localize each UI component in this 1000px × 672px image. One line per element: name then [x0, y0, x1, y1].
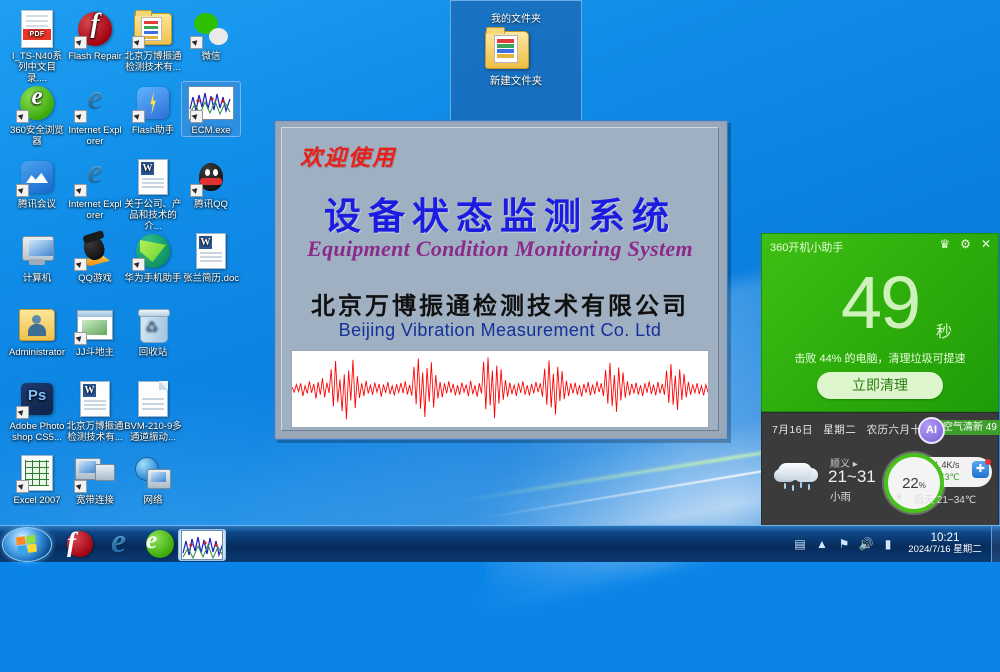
clock-date: 2024/7/16 星期二	[899, 544, 991, 556]
desktop-icon-label: Internet Explorer	[66, 199, 124, 221]
splash-company-cn: 北京万博振通检测技术有限公司	[282, 286, 718, 321]
network-glyph	[124, 452, 182, 494]
desktop-icon-flash-helper[interactable]: Flash助手	[124, 82, 182, 136]
desktop-icon-bvm-210-doc[interactable]: BVM-210-9多通道振动...	[124, 378, 182, 443]
flash-repair-glyph	[66, 8, 124, 50]
desktop-icon-network[interactable]: 网络	[124, 452, 182, 506]
weather-date-line: 7月16日 星期二 农历六月十一	[772, 422, 933, 437]
shortcut-arrow-icon	[190, 110, 203, 123]
desktop-icon-label: 腾讯QQ	[182, 199, 240, 210]
desktop-icon-label: Adobe Photoshop CS5...	[8, 421, 66, 443]
desktop-icon-label: 北京万博振通检测技术有...	[124, 51, 182, 73]
desktop-icon-label: 张兰简历.doc	[182, 273, 240, 284]
desktop-icon-company-intro-doc[interactable]: W关于公司、产品和技术的介...	[124, 156, 182, 232]
shortcut-arrow-icon	[16, 480, 29, 493]
shortcut-arrow-icon	[16, 406, 29, 419]
company-intro-doc-glyph: W	[124, 156, 182, 198]
desktop-icon-flash-repair[interactable]: Flash Repair	[66, 8, 124, 62]
clean-now-button[interactable]: 立即清理	[817, 372, 943, 399]
qq-game-glyph	[66, 230, 124, 272]
usage-percent-value: 22	[902, 475, 919, 492]
shortcut-arrow-icon	[190, 36, 203, 49]
close-icon[interactable]: ✕	[981, 238, 991, 250]
forecast-text: 后天 21~34℃	[914, 491, 976, 506]
weather-date: 7月16日	[772, 424, 813, 436]
network-icon[interactable]: ▮	[877, 526, 899, 562]
ecm-exe-glyph	[182, 82, 240, 124]
widget-360-unit: 秒	[936, 318, 952, 342]
resume-doc-glyph: W	[182, 230, 240, 272]
broadband-connection-glyph	[66, 452, 124, 494]
notification-icon[interactable]: ▤	[789, 526, 811, 562]
folder-icon	[485, 31, 529, 69]
shortcut-arrow-icon	[74, 36, 87, 49]
jj-landlord-glyph	[66, 304, 124, 346]
word-document-icon: W	[138, 159, 168, 195]
desktop-icon-ecm-exe[interactable]: ECM.exe	[182, 82, 240, 136]
tencent-meeting-glyph	[8, 156, 66, 198]
bvm-210-doc-glyph	[124, 378, 182, 420]
company-folder-glyph	[124, 8, 182, 50]
weather-temp-range: 21~31	[828, 467, 876, 487]
taskbar-flash[interactable]	[60, 529, 100, 559]
pdf-file-icon: PDF	[21, 10, 53, 48]
folder-selection-box[interactable]: 我的文件夹 新建文件夹	[450, 0, 582, 122]
taskbar-360-browser[interactable]	[140, 529, 180, 559]
desktop-icon-label: 网络	[124, 495, 182, 506]
desktop-icon-pdf-catalog[interactable]: PDFI_TS-N40系列中文目录....	[8, 8, 66, 84]
desktop-icon-tencent-meeting[interactable]: 腾讯会议	[8, 156, 66, 210]
desktop-icon-resume-doc[interactable]: W张兰简历.doc	[182, 230, 240, 284]
desktop-icon-label: 微信	[182, 51, 240, 62]
excel-2007-glyph	[8, 452, 66, 494]
desktop-icon-label: Internet Explorer	[66, 125, 124, 147]
gear-icon[interactable]: ⚙	[960, 238, 971, 250]
internet-explorer-icon	[111, 530, 139, 558]
desktop-icon-label: Flash助手	[124, 125, 182, 136]
vibration-waveform-chart	[291, 350, 709, 428]
wechat-glyph	[182, 8, 240, 50]
desktop-icon-label: 腾讯会议	[8, 199, 66, 210]
action-center-icon[interactable]: ⚑	[833, 526, 855, 562]
internet-explorer-2-glyph	[66, 156, 124, 198]
desktop-icon-label: 宽带连接	[66, 495, 124, 506]
desktop-icon-company-folder[interactable]: 北京万博振通检测技术有...	[124, 8, 182, 73]
shortcut-arrow-icon	[74, 110, 87, 123]
desktop-icon-label: Flash Repair	[66, 51, 124, 62]
splash-company-en: Beijing Vibration Measurement Co. Ltd	[282, 320, 718, 341]
company-doc-glyph: W	[66, 378, 124, 420]
word-document-icon: W	[196, 233, 226, 269]
show-desktop-button[interactable]	[991, 526, 1000, 562]
weather-condition: 小雨	[830, 489, 851, 504]
clock-time: 10:21	[899, 532, 991, 544]
shortcut-arrow-icon	[132, 110, 145, 123]
desktop-icon-photoshop-cs5[interactable]: Adobe Photoshop CS5...	[8, 378, 66, 443]
widget-360-title: 360开机小助手	[770, 239, 843, 255]
document-icon	[138, 381, 168, 417]
shortcut-arrow-icon	[190, 184, 203, 197]
browser-360-icon	[146, 530, 174, 558]
photoshop-cs5-glyph	[8, 378, 66, 420]
desktop-icon-label: ECM.exe	[182, 125, 240, 136]
ecm-splash-window[interactable]: 欢迎使用 设备状态监测系统 Equipment Condition Monito…	[274, 120, 728, 440]
desktop-icon-label: 关于公司、产品和技术的介...	[124, 199, 182, 232]
sun-icon: ☀	[894, 491, 904, 504]
desktop-icon-tencent-qq[interactable]: 腾讯QQ	[182, 156, 240, 210]
desktop-icon-recycle-bin[interactable]: ♺回收站	[124, 304, 182, 358]
shortcut-arrow-icon	[74, 184, 87, 197]
shortcut-arrow-icon	[16, 110, 29, 123]
desktop-icon-qq-game[interactable]: QQ游戏	[66, 230, 124, 284]
ai-badge[interactable]: AI	[918, 417, 945, 444]
start-button[interactable]	[2, 527, 52, 562]
network-icon	[135, 457, 171, 489]
pdf-catalog-glyph: PDF	[8, 8, 66, 50]
internet-explorer-1-glyph	[66, 82, 124, 124]
ecm-waveform-icon	[181, 530, 223, 560]
widget-360-subtitle: 击败 44% 的电脑，清理垃圾可提速	[762, 350, 998, 366]
desktop-icon-wechat[interactable]: 微信	[182, 8, 240, 62]
shortcut-arrow-icon	[16, 184, 29, 197]
desktop-icon-jj-landlord[interactable]: JJ斗地主	[66, 304, 124, 358]
waveform-svg	[292, 351, 708, 427]
desktop-icon-label: 华为手机助手	[124, 273, 182, 284]
shortcut-arrow-icon	[74, 332, 87, 345]
windows-logo-icon	[16, 535, 37, 554]
taskbar-clock[interactable]: 10:21 2024/7/16 星期二	[899, 532, 991, 556]
desktop-icon-label: 360安全浏览器	[8, 125, 66, 147]
folder-caption: 新建文件夹	[451, 73, 581, 88]
huawei-phone-assistant-glyph	[124, 230, 182, 272]
desktop-icon-label: 计算机	[8, 273, 66, 284]
splash-inner-panel: 欢迎使用 设备状态监测系统 Equipment Condition Monito…	[281, 127, 719, 431]
shortcut-arrow-icon	[74, 258, 87, 271]
volume-icon[interactable]: 🔊	[855, 526, 877, 562]
desktop-icon-computer[interactable]: 计算机	[8, 230, 66, 284]
desktop-icon-company-doc[interactable]: W北京万博振通检测技术有...	[66, 378, 124, 443]
widget-360-boot-assistant[interactable]: 360开机小助手 ♛ ⚙ ✕ 49 秒 击败 44% 的电脑，清理垃圾可提速 立…	[761, 233, 999, 412]
desktop-icon-label: 北京万博振通检测技术有...	[66, 421, 124, 443]
word-document-icon: W	[80, 381, 110, 417]
shortcut-arrow-icon	[74, 480, 87, 493]
system-tray[interactable]: ▤ ▲ ⚑ 🔊 ▮ 10:21 2024/7/16 星期二	[789, 526, 1000, 562]
rain-cloud-icon	[774, 459, 820, 493]
splash-title-en: Equipment Condition Monitoring System	[282, 236, 718, 262]
desktop-icon-label: BVM-210-9多通道振动...	[124, 421, 182, 443]
shortcut-arrow-icon	[132, 258, 145, 271]
taskbar[interactable]: ▤ ▲ ⚑ 🔊 ▮ 10:21 2024/7/16 星期二	[0, 525, 1000, 562]
weather-weekday: 星期二	[823, 424, 856, 436]
shortcut-arrow-icon	[132, 36, 145, 49]
flash-helper-glyph	[124, 82, 182, 124]
desktop-icon-browser-360[interactable]: 360安全浏览器	[8, 82, 66, 147]
taskbar-ecm[interactable]	[178, 529, 226, 561]
recycle-bin-icon: ♺	[138, 308, 168, 342]
desktop-icon-huawei-phone-assistant[interactable]: 华为手机助手	[124, 230, 182, 284]
desktop-icon-label: Excel 2007	[8, 495, 66, 506]
computer-icon	[19, 236, 55, 266]
widget-360-toolbar: ♛ ⚙ ✕	[939, 238, 991, 250]
air-quality-badge: 空气清新 49	[938, 420, 1000, 435]
desktop-icon-internet-explorer-2[interactable]: Internet Explorer	[66, 156, 124, 221]
folder-tooltip-title: 我的文件夹	[451, 1, 581, 25]
plus-badge-icon[interactable]: ✚	[972, 461, 989, 478]
flash-logo-icon	[67, 531, 93, 557]
desktop-icon-label: QQ游戏	[66, 273, 124, 284]
tencent-qq-glyph	[182, 156, 240, 198]
desktop-icon-label: Administrator	[8, 347, 66, 358]
desktop-icon-broadband-connection[interactable]: 宽带连接	[66, 452, 124, 506]
desktop-icon-label: I_TS-N40系列中文目录....	[8, 51, 66, 84]
widget-weather-hardware[interactable]: 7月16日 星期二 农历六月十一 空气清新 49 AI 顺义 ▸ 21~31 小…	[761, 412, 999, 529]
usage-percent-unit: %	[919, 481, 926, 490]
desktop-icon-label: 回收站	[124, 347, 182, 358]
recycle-bin-glyph: ♺	[124, 304, 182, 346]
welcome-text: 欢迎使用	[300, 140, 396, 172]
desktop-icon-label: JJ斗地主	[66, 347, 124, 358]
taskbar-ie[interactable]	[105, 529, 145, 559]
shirt-icon[interactable]: ♛	[939, 238, 950, 250]
administrator-glyph	[8, 304, 66, 346]
user-folder-icon	[19, 309, 55, 341]
splash-title-cn: 设备状态监测系统	[282, 186, 718, 240]
browser-360-glyph	[8, 82, 66, 124]
desktop-icon-excel-2007[interactable]: Excel 2007	[8, 452, 66, 506]
show-hidden-icons-chevron[interactable]: ▲	[811, 526, 833, 562]
computer-glyph	[8, 230, 66, 272]
desktop-icon-internet-explorer-1[interactable]: Internet Explorer	[66, 82, 124, 147]
desktop-icon-administrator[interactable]: Administrator	[8, 304, 66, 358]
widget-360-countdown: 49	[762, 260, 998, 345]
